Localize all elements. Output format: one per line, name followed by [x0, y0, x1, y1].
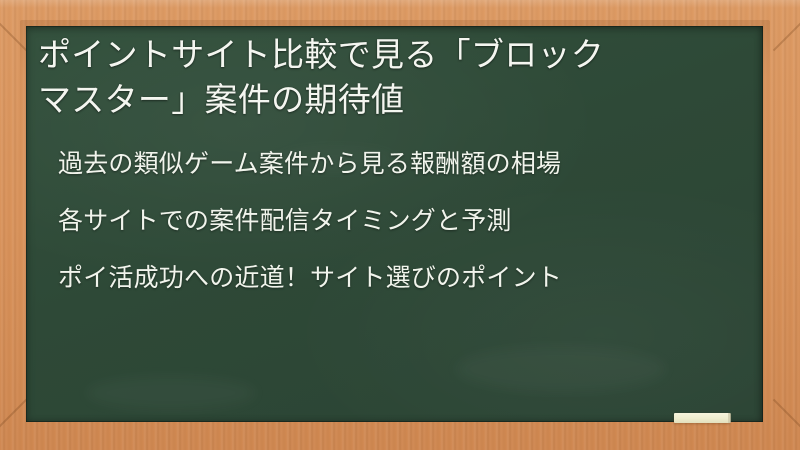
- list-item: 各サイトでの案件配信タイミングと予測: [34, 206, 741, 236]
- frame-miter-top-right: [773, 17, 800, 51]
- frame-top-highlight: [0, 0, 800, 8]
- frame-miter-bottom-right: [773, 399, 800, 433]
- topic-list: 過去の類似ゲーム案件から見る報酬額の相場 各サイトでの案件配信タイミングと予測 …: [34, 149, 741, 293]
- board-content: ポイントサイト比較で見る「ブロック マスター」案件の期待値 過去の類似ゲーム案件…: [26, 26, 763, 422]
- chalkboard-slide: ポイントサイト比較で見る「ブロック マスター」案件の期待値 過去の類似ゲーム案件…: [0, 0, 800, 450]
- chalk-stick-end: [728, 413, 731, 423]
- chalkboard-surface: ポイントサイト比較で見る「ブロック マスター」案件の期待値 過去の類似ゲーム案件…: [26, 26, 763, 422]
- list-item: 過去の類似ゲーム案件から見る報酬額の相場: [34, 149, 741, 179]
- slide-title: ポイントサイト比較で見る「ブロック マスター」案件の期待値: [34, 32, 741, 122]
- list-item: ポイ活成功への近道！サイト選びのポイント: [34, 263, 741, 293]
- chalk-stick-icon: [674, 413, 730, 423]
